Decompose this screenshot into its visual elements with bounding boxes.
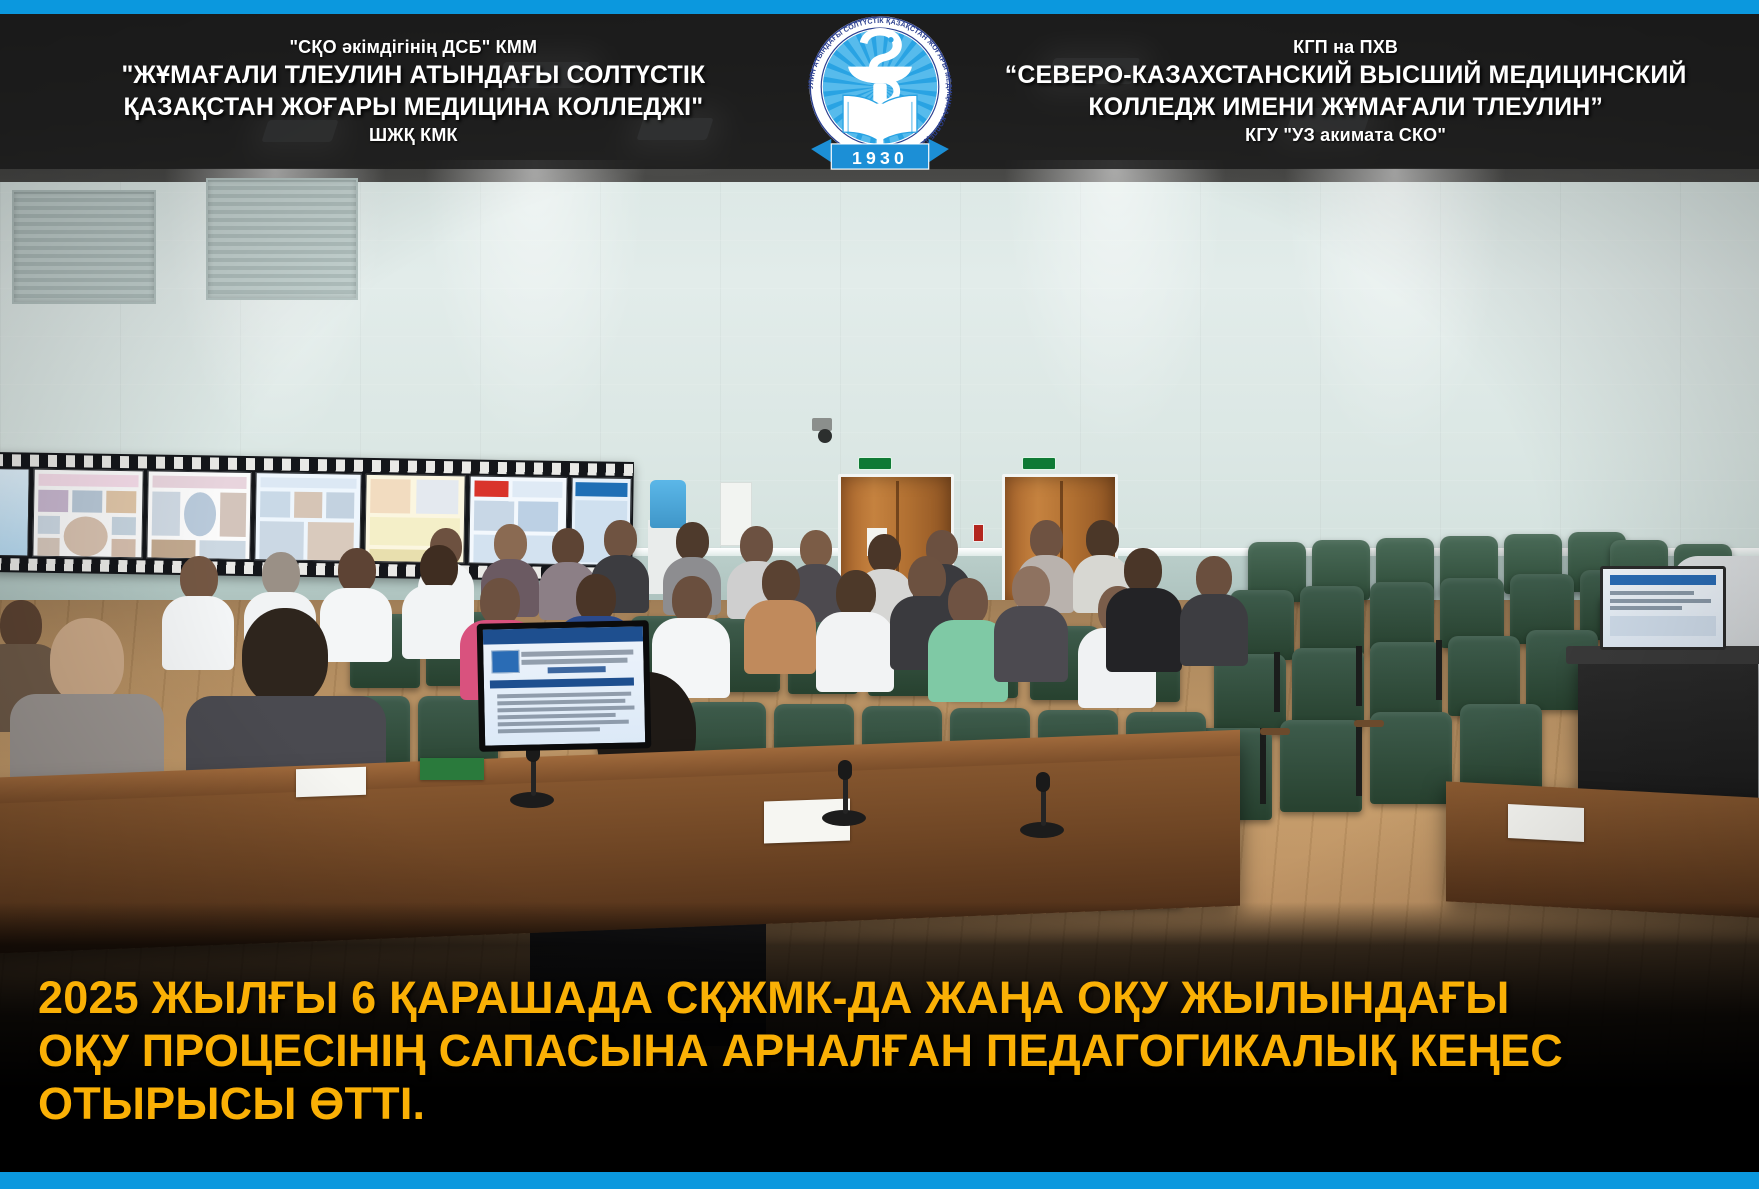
side-table <box>1446 781 1759 918</box>
header-left-titles: "СҚО әкімдігінің ДСБ" КММ "ЖҰМАҒАЛИ ТЛЕУ… <box>0 37 827 145</box>
slide-section-bar <box>490 678 634 689</box>
document-folder <box>420 758 484 780</box>
header-left-line2: "ЖҰМАҒАЛИ ТЛЕУЛИН АТЫНДАҒЫ СОЛТҮСТІК <box>10 61 817 90</box>
poster-image: "СҚО әкімдігінің ДСБ" КММ "ЖҰМАҒАЛИ ТЛЕУ… <box>0 0 1759 1189</box>
microphone <box>510 742 560 808</box>
header-right-line2: “СЕВЕРО-КАЗАХСТАНСКИЙ ВЫСШИЙ МЕДИЦИНСКИЙ <box>942 61 1749 90</box>
caption-line3: ОТЫРЫСЫ ӨТТІ. <box>38 1077 1719 1130</box>
college-emblem-icon: ЖҰМАҒАЛИ ТЛЕУЛИН АТЫНДАҒЫ СОЛТҮСТІК ҚАЗА… <box>796 6 964 181</box>
paper-sheet <box>296 767 366 797</box>
college-logo: ЖҰМАҒАЛИ ТЛЕУЛИН АТЫНДАҒЫ СОЛТҮСТІК ҚАЗА… <box>796 6 964 181</box>
caption-line2: ОҚУ ПРОЦЕСІНІҢ САПАСЫНА АРНАЛҒАН ПЕДАГОГ… <box>38 1024 1719 1077</box>
laptop-screen <box>477 620 652 752</box>
slide-title-bar <box>483 626 643 644</box>
header-right-line1: КГП на ПХВ <box>942 37 1749 58</box>
header-left-line3: ҚАЗАҚСТАН ЖОҒАРЫ МЕДИЦИНА КОЛЛЕДЖІ" <box>10 93 817 122</box>
slide-text-line <box>497 692 631 699</box>
caption-line1: 2025 ЖЫЛҒЫ 6 ҚАРАШАДА СҚЖМК-ДА ЖАҢА ОҚУ … <box>38 971 1719 1024</box>
presentation-laptop[interactable] <box>477 620 652 752</box>
slide-text-line <box>497 699 625 706</box>
caption-text: 2025 ЖЫЛҒЫ 6 ҚАРАШАДА СҚЖМК-ДА ЖАҢА ОҚУ … <box>38 971 1719 1130</box>
podium-slide <box>1603 569 1723 647</box>
slide-text-line <box>497 705 635 712</box>
header-left-line4: ШЖҚ КМК <box>10 125 817 146</box>
slide-text-line <box>548 667 606 674</box>
bottom-accent-bar <box>0 1172 1759 1189</box>
header-left-line1: "СҚО әкімдігінің ДСБ" КММ <box>10 37 817 58</box>
header-right-line3: КОЛЛЕДЖ ИМЕНИ ЖҰМАҒАЛИ ТЛЕУЛИН” <box>942 93 1749 122</box>
slide-logo-box <box>491 650 519 673</box>
podium-laptop <box>1600 566 1726 650</box>
slide-text-line <box>498 719 629 726</box>
top-accent-bar <box>0 0 1759 14</box>
header-right-line4: КГУ "УЗ акимата СКО" <box>942 125 1749 146</box>
caption-banner: 2025 ЖЫЛҒЫ 6 ҚАРАШАДА СҚЖМК-ДА ЖАҢА ОҚУ … <box>0 902 1759 1172</box>
slide-text-line <box>522 658 628 665</box>
microphone <box>1020 772 1070 838</box>
header-right-titles: КГП на ПХВ “СЕВЕРО-КАЗАХСТАНСКИЙ ВЫСШИЙ … <box>932 37 1759 145</box>
slide-text-line <box>522 650 634 657</box>
presentation-slide <box>483 626 645 745</box>
microphone <box>822 760 872 826</box>
slide-text-line <box>498 727 600 733</box>
logo-year: 1930 <box>851 148 907 168</box>
paper-sheet <box>1508 804 1584 842</box>
slide-text-line <box>497 713 615 720</box>
